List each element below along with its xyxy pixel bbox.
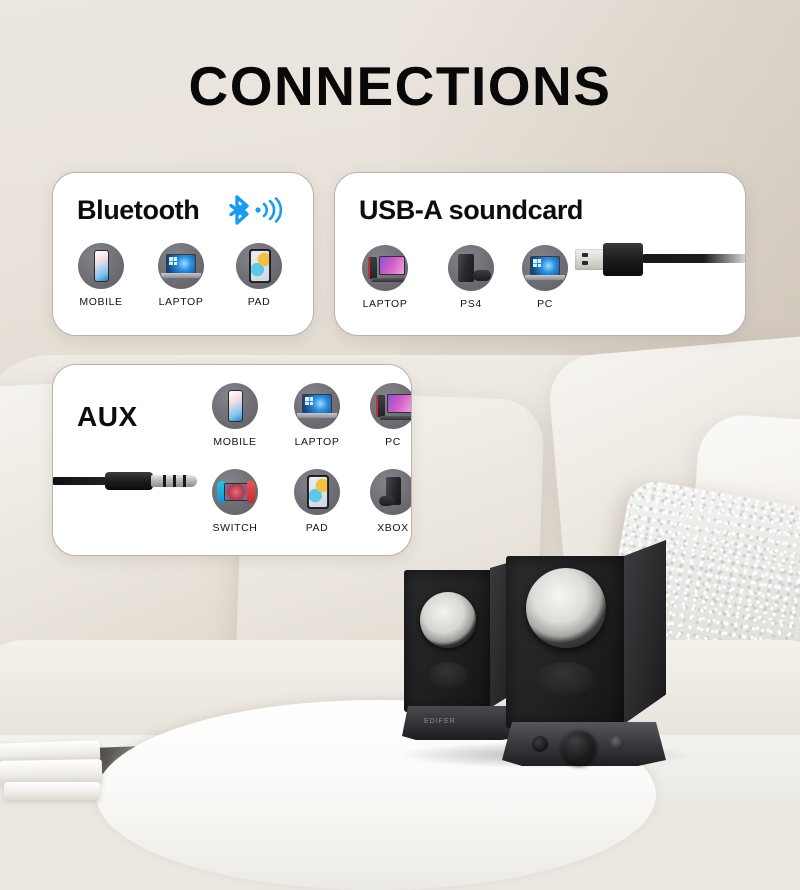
card-aux: AUX MOBILE LAPTOP	[52, 364, 412, 556]
card-title-usb: USB-A soundcard	[359, 195, 583, 226]
usb-a-connector	[575, 239, 746, 279]
laptop-icon	[294, 383, 340, 429]
device-switch: SWITCH	[203, 469, 267, 534]
device-ps4: PS4	[439, 245, 503, 310]
usb-cable	[641, 254, 746, 263]
device-pad: PAD	[285, 469, 349, 534]
bluetooth-icon	[225, 195, 287, 225]
device-pc: PC	[513, 245, 577, 310]
device-laptop: LAPTOP	[353, 245, 417, 310]
device-label: LAPTOP	[285, 436, 349, 448]
mobile-phone-icon	[212, 383, 258, 429]
device-mobile: MOBILE	[203, 383, 267, 448]
card-usb-soundcard: USB-A soundcard LAPTOP PS4 PC	[334, 172, 746, 336]
device-pc: PC	[361, 383, 412, 448]
card-title-aux: AUX	[77, 401, 138, 433]
device-label: PAD	[227, 296, 291, 308]
device-pad: PAD	[227, 243, 291, 308]
aux-cable	[52, 477, 109, 485]
card-bluetooth: Bluetooth MOBILE LAPTOP	[52, 172, 314, 336]
device-label: LAPTOP	[149, 296, 213, 308]
laptop-icon	[522, 245, 568, 291]
usb-metal-shell	[575, 249, 605, 270]
device-label: PAD	[285, 522, 349, 534]
device-mobile: MOBILE	[69, 243, 133, 308]
device-label: XBOX	[361, 522, 412, 534]
device-laptop: LAPTOP	[285, 383, 349, 448]
tablet-icon	[236, 243, 282, 289]
aux-35mm-plug	[52, 469, 211, 493]
page-title: CONNECTIONS	[0, 54, 800, 118]
tablet-icon	[294, 469, 340, 515]
aux-barrel	[105, 472, 153, 490]
device-label: SWITCH	[203, 522, 267, 534]
device-xbox: XBOX	[361, 469, 412, 534]
xbox-console-icon	[370, 469, 412, 515]
usb-overmold	[603, 243, 643, 276]
desktop-computer-icon	[362, 245, 408, 291]
desktop-computer-icon	[370, 383, 412, 429]
laptop-icon	[158, 243, 204, 289]
device-label: PC	[513, 298, 577, 310]
device-label: MOBILE	[69, 296, 133, 308]
device-label: LAPTOP	[353, 298, 417, 310]
mobile-phone-icon	[78, 243, 124, 289]
playstation-console-icon	[448, 245, 494, 291]
device-label: PC	[361, 436, 412, 448]
device-label: MOBILE	[203, 436, 267, 448]
device-label: PS4	[439, 298, 503, 310]
card-title-bluetooth: Bluetooth	[77, 195, 199, 226]
device-laptop: LAPTOP	[149, 243, 213, 308]
nintendo-switch-icon	[212, 469, 258, 515]
